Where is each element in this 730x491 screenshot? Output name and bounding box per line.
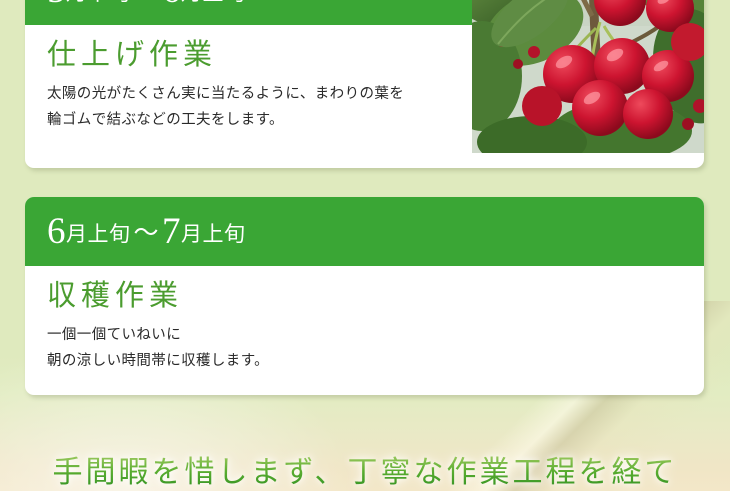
work-process-section: 5月下旬～6月上旬 仕上げ作業 太陽の光がたくさん実に当たるように、まわりの葉を… [0, 0, 730, 491]
period-end-unit: 月上旬 [181, 0, 246, 5]
period-start-unit: 月下旬 [66, 0, 131, 5]
period-start-number: 6 [47, 211, 66, 252]
period-start-unit: 月上旬 [66, 222, 131, 246]
card-description: 一個一個ていねいに 朝の涼しい時間帯に収穫します。 [47, 323, 704, 375]
process-card-finishing: 5月下旬～6月上旬 仕上げ作業 太陽の光がたくさん実に当たるように、まわりの葉を… [25, 0, 704, 168]
period-separator: ～ [131, 220, 163, 247]
description-line: 一個一個ていねいに [47, 323, 704, 349]
period-end-number: 7 [162, 211, 181, 252]
period-end-number: 6 [162, 0, 181, 11]
description-line: 朝の涼しい時間帯に収穫します。 [47, 349, 704, 375]
period-label: 5月下旬～6月上旬 [47, 0, 246, 9]
card-period-header: 6月上旬～7月上旬 [25, 197, 704, 266]
card-body: 収穫作業 一個一個ていねいに 朝の涼しい時間帯に収穫します。 [25, 266, 704, 375]
period-end-unit: 月上旬 [181, 222, 246, 246]
card-title: 収穫作業 [47, 280, 704, 313]
period-separator: ～ [131, 0, 163, 6]
period-label: 6月上旬～7月上旬 [47, 213, 246, 250]
process-card-harvest: 6月上旬～7月上旬 収穫作業 一個一個ていねいに 朝の涼しい時間帯に収穫します。 [25, 197, 704, 395]
cherries-on-tree-photo [472, 0, 704, 153]
section-tagline: 手間暇を惜しまず、丁寧な作業工程を経て [0, 455, 730, 491]
period-start-number: 5 [47, 0, 66, 11]
